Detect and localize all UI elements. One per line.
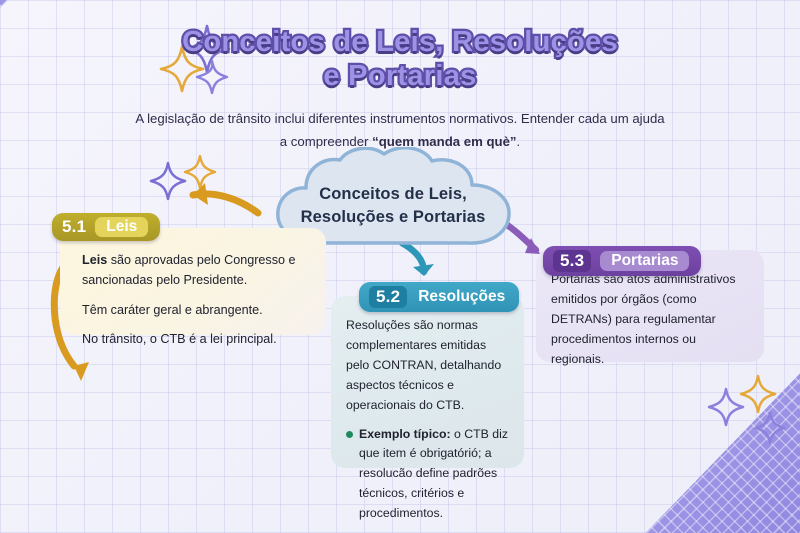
arrow-head-resolucoes <box>413 264 434 276</box>
badge-resolucoes-name: Resoluções <box>416 287 507 307</box>
arrow-head-leis-upper <box>193 183 208 205</box>
badge-resolucoes[interactable]: 5.2 Resoluções <box>359 282 519 312</box>
card-leis-paragraph-3: No trânsito, o CTB é a lei principal. <box>82 329 308 349</box>
central-node-line1: Conceitos de Leis, <box>319 183 467 206</box>
central-node-line2: Resoluções e Portarias <box>301 206 486 229</box>
page-title-line2: e Portarias <box>0 60 800 94</box>
card-resolucoes[interactable]: Resoluções são normas complementares emi… <box>331 296 524 468</box>
page-title-line1: Conceitos de Leis, Resoluções <box>182 26 618 58</box>
card-leis-paragraph-2: Têm caráter geral e abrangente. <box>82 300 308 320</box>
badge-leis-number: 5.1 <box>62 217 86 237</box>
bullet-dot-icon <box>346 431 353 438</box>
sparkle-gold-mid-icon <box>184 155 216 189</box>
sparkle-purple-br2-icon <box>755 412 785 444</box>
page-title: Conceitos de Leis, Resoluções e Portaria… <box>0 26 800 93</box>
card-resolucoes-body: Resoluções são normas complementares emi… <box>331 296 524 533</box>
sparkle-purple-br-icon <box>708 388 744 426</box>
badge-leis-name: Leis <box>95 217 148 237</box>
card-resolucoes-bullet-label: Exemplo típico: <box>359 427 451 441</box>
badge-portarias-number: 5.3 <box>553 250 591 272</box>
card-portarias-paragraph-1: Portarias são atos administrativos emiti… <box>551 270 750 370</box>
badge-leis[interactable]: 5.1 Leis <box>52 213 160 241</box>
card-leis-lead: Leis <box>82 253 107 267</box>
subtitle-line1: A legislação de trânsito inclui diferent… <box>135 111 664 126</box>
badge-portarias[interactable]: 5.3 Portarias <box>543 246 701 276</box>
header: Conceitos de Leis, Resoluções e Portaria… <box>0 26 800 153</box>
card-resolucoes-bullet-text: Exemplo típico: o CTB diz que item é obr… <box>359 425 510 525</box>
corner-decoration-bottom-right <box>632 361 800 533</box>
card-resolucoes-paragraph-1: Resoluções são normas complementares emi… <box>346 316 510 416</box>
card-resolucoes-bullet-row: Exemplo típico: o CTB diz que item é obr… <box>346 425 510 525</box>
card-leis-p1-rest: são aprovadas pelo Congresso e sancionad… <box>82 253 296 287</box>
badge-portarias-name: Portarias <box>600 251 689 271</box>
sparkle-purple-mid-icon <box>150 162 186 200</box>
card-leis[interactable]: Leis são aprovadas pelo Congresso e sanc… <box>60 228 326 335</box>
card-leis-paragraph-1: Leis são aprovadas pelo Congresso e sanc… <box>82 250 308 291</box>
badge-resolucoes-number: 5.2 <box>369 286 407 308</box>
card-leis-body: Leis são aprovadas pelo Congresso e sanc… <box>60 228 326 366</box>
infographic-canvas: Conceitos de Leis, Resoluções e Portaria… <box>0 0 800 533</box>
